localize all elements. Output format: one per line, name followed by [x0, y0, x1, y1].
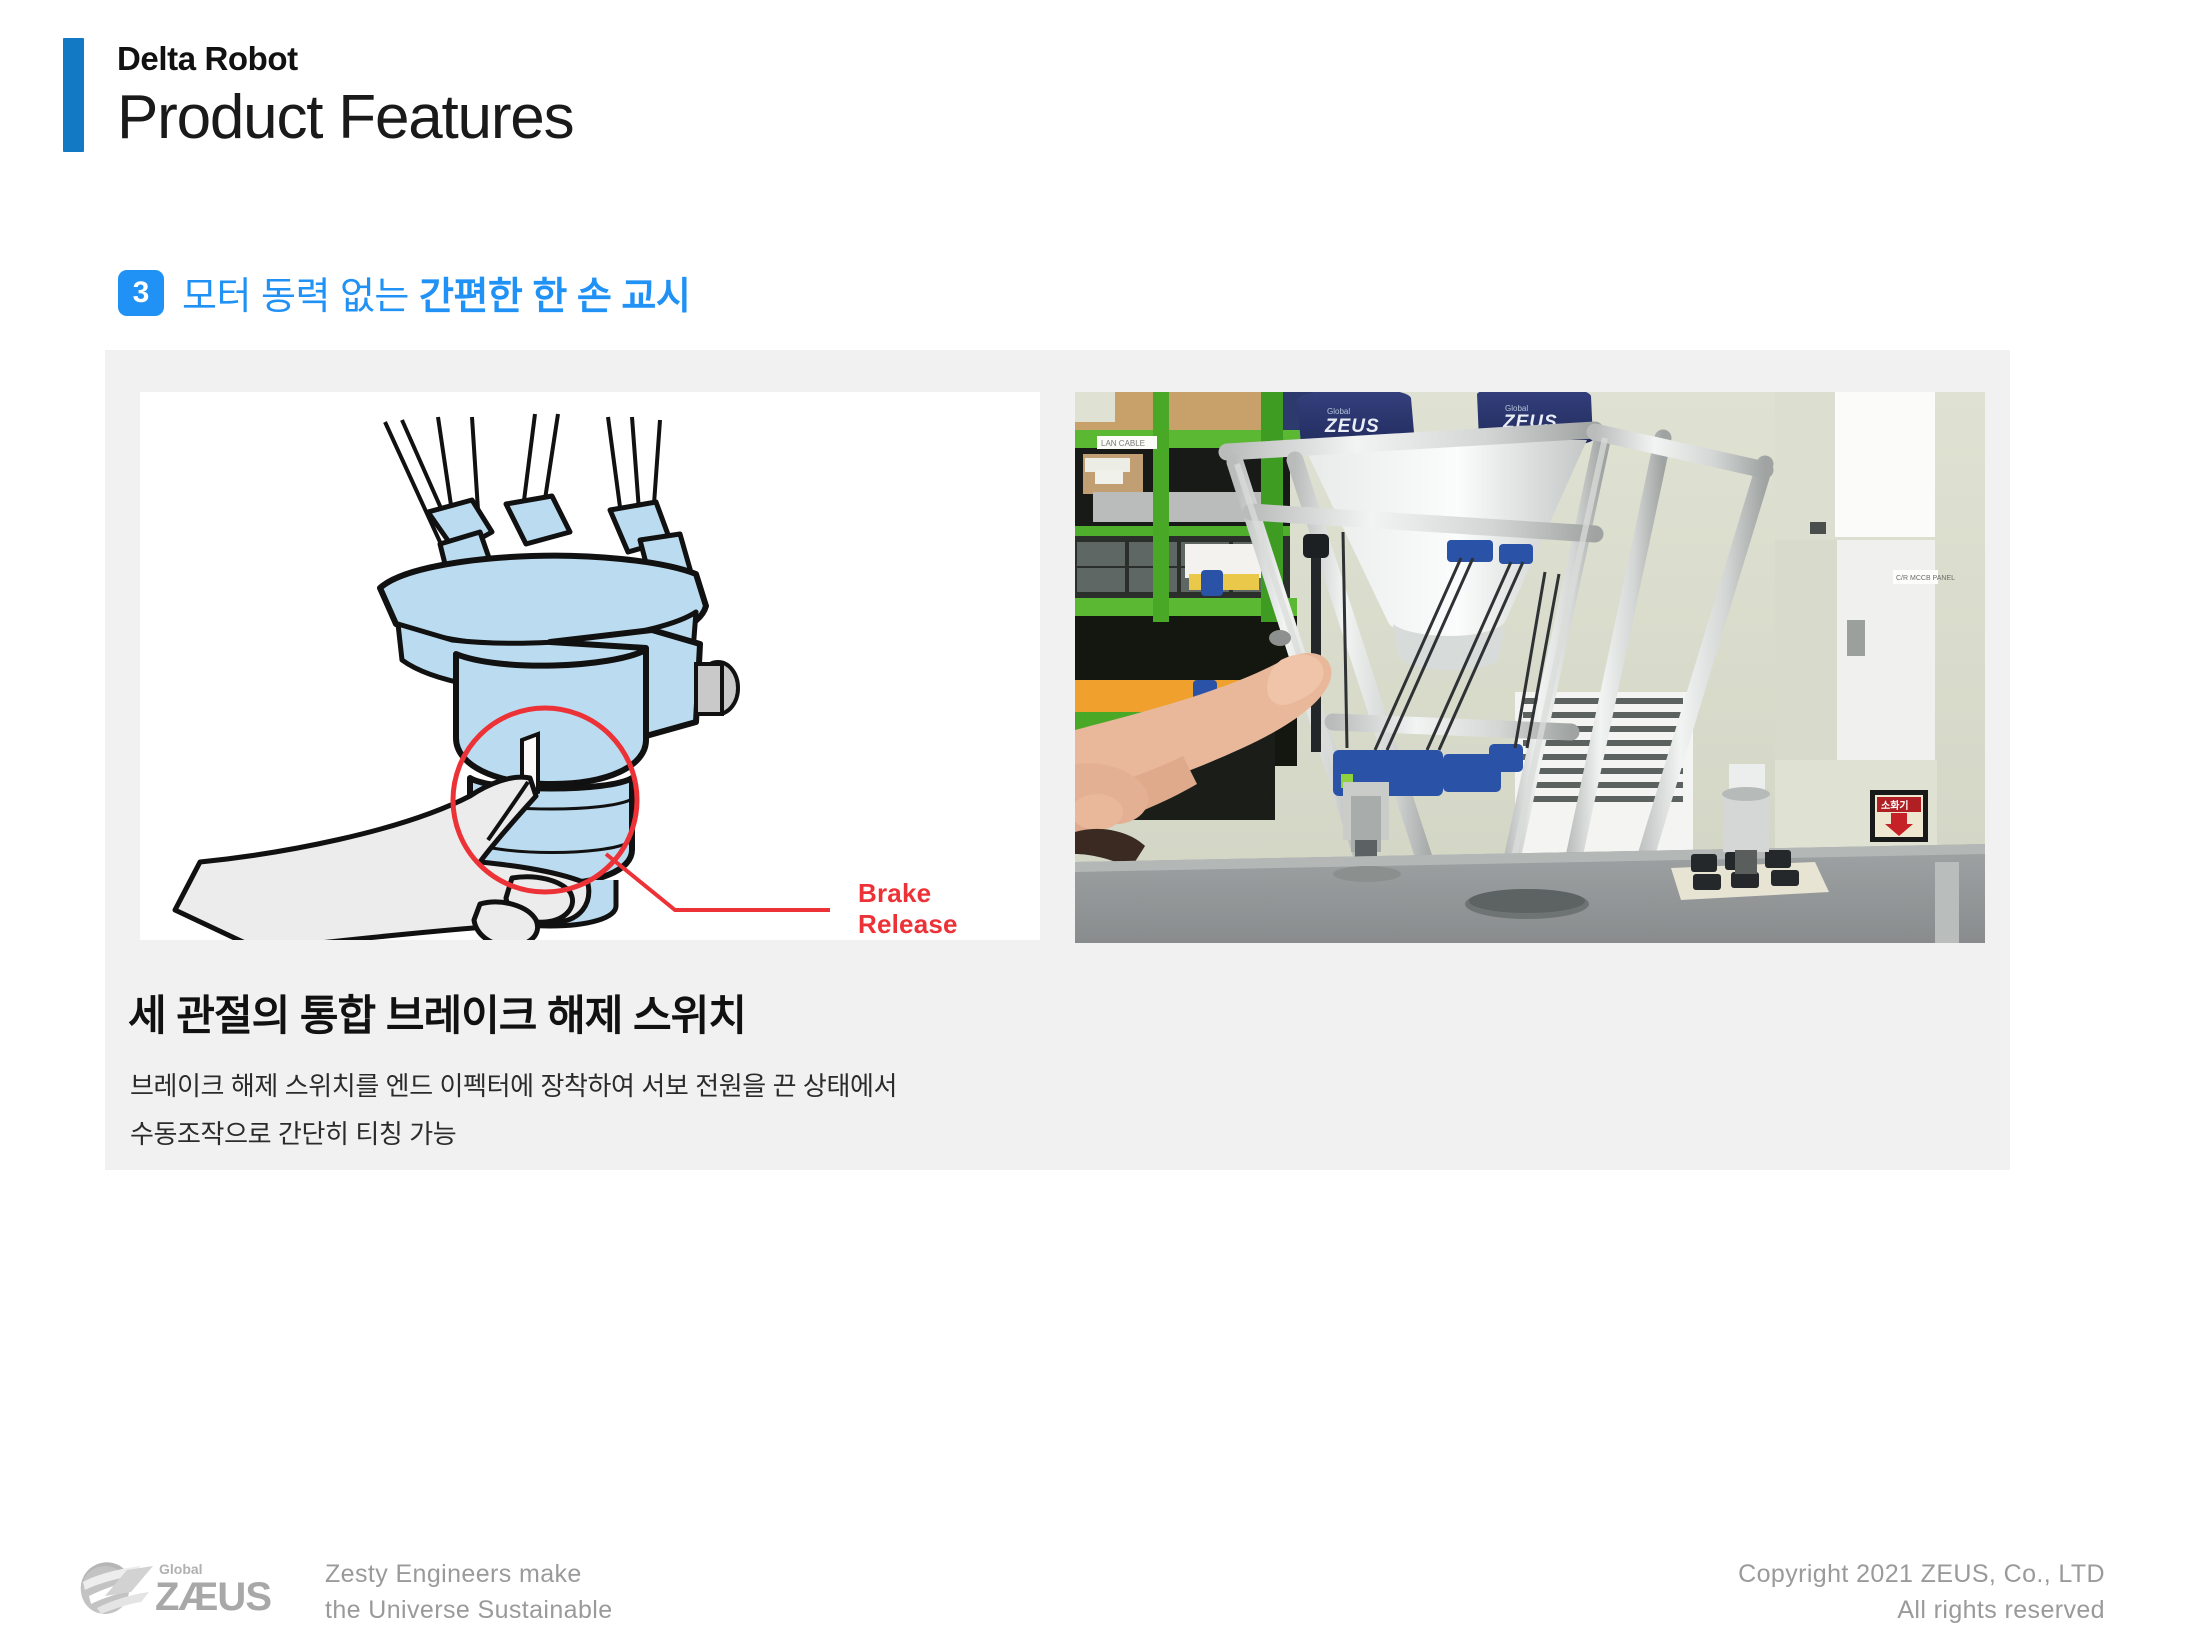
robot-brand-sub-right: Global	[1505, 404, 1528, 413]
page-title: Product Features	[117, 85, 573, 152]
section-number-badge: 3	[118, 270, 164, 316]
shelf-label-text: LAN CABLE	[1101, 439, 1145, 448]
zeus-logo: Global ZÆUS	[75, 1552, 315, 1618]
caption-line-2: 수동조작으로 간단히 티칭 가능	[130, 1110, 897, 1158]
section-heading: 3 모터 동력 없는 간편한 한 손 교시	[118, 265, 690, 320]
copyright-notice: Copyright 2021 ZEUS, Co., LTD All rights…	[1738, 1556, 2105, 1629]
robot-demo-photo: LAN CABLE C/R MCCB PANEL	[1075, 392, 1985, 943]
header-text-group: Delta Robot Product Features	[117, 38, 573, 152]
page-header: Delta Robot Product Features	[63, 38, 573, 152]
copyright-line-2: All rights reserved	[1738, 1592, 2105, 1628]
caption-line-1: 브레이크 해제 스위치를 엔드 이펙터에 장착하여 서보 전원을 끈 상태에서	[130, 1062, 897, 1110]
globe-swoosh-icon	[81, 1562, 153, 1614]
company-tagline: Zesty Engineers make the Universe Sustai…	[325, 1556, 613, 1629]
callout-line-3: Button	[858, 939, 958, 940]
fire-extinguisher-label: 소화기	[1881, 799, 1909, 812]
section-title-strong: 간편한 한 손 교시	[419, 276, 690, 318]
section-title: 모터 동력 없는 간편한 한 손 교시	[182, 265, 690, 320]
robot-brand-label-left: ZEUS	[1324, 416, 1380, 437]
panel-label-text: C/R MCCB PANEL	[1896, 575, 1955, 582]
caption-body: 브레이크 해제 스위치를 엔드 이펙터에 장착하여 서보 전원을 끈 상태에서 …	[130, 1062, 897, 1158]
tagline-line-1: Zesty Engineers make	[325, 1556, 613, 1592]
logo-zeus-text: ZÆUS	[155, 1575, 271, 1618]
brake-release-button-callout-label: Brake Release Button	[858, 878, 958, 940]
section-title-normal: 모터 동력 없는	[182, 276, 419, 318]
callout-line-2: Release	[858, 909, 958, 940]
callout-line-1: Brake	[858, 878, 958, 909]
header-eyebrow: Delta Robot	[117, 42, 573, 75]
header-accent-bar	[63, 38, 84, 152]
copyright-line-1: Copyright 2021 ZEUS, Co., LTD	[1738, 1556, 2105, 1592]
illustration-box: Brake Release Button	[140, 392, 1040, 940]
tagline-line-2: the Universe Sustainable	[325, 1592, 613, 1628]
right-cabinet: C/R MCCB PANEL 소화기	[1775, 392, 1955, 890]
robot-brand-sub-left: Global	[1327, 407, 1350, 416]
caption-heading: 세 관절의 통합 브레이크 해제 스위치	[128, 982, 746, 1043]
fire-extinguisher-sign: 소화기	[1870, 790, 1928, 842]
